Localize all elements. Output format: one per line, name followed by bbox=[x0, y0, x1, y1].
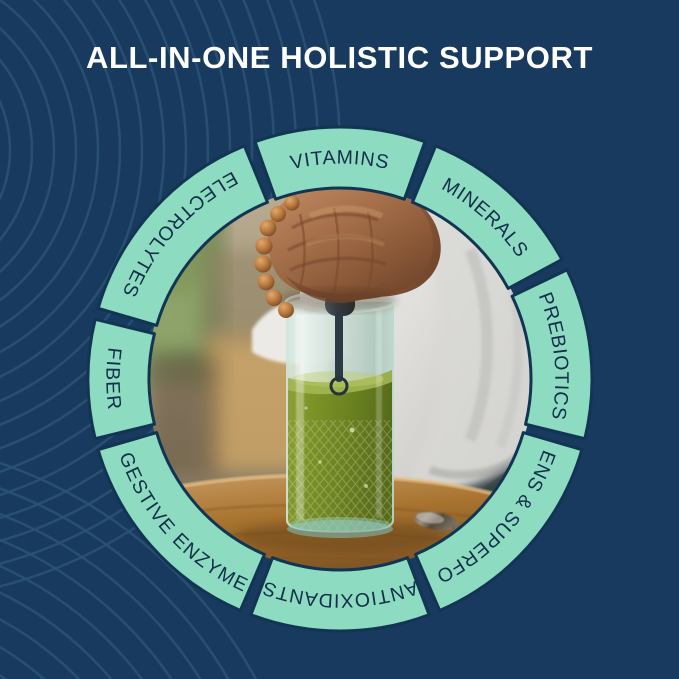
segment-label-greens-superfoods: GREENS & SUPERFOODS bbox=[0, 0, 560, 588]
page-title: ALL-IN-ONE HOLISTIC SUPPORT bbox=[0, 40, 679, 76]
holistic-support-wheel: VITAMINSMINERALSPREBIOTICSGREENS & SUPER… bbox=[0, 0, 679, 679]
poster-canvas: ALL-IN-ONE HOLISTIC SUPPORT VITAMINSMINE… bbox=[0, 0, 679, 679]
segment-label-fiber: FIBER bbox=[101, 346, 125, 411]
wheel-segment-electrolytes[interactable] bbox=[98, 146, 267, 326]
wheel-segments bbox=[88, 127, 592, 631]
